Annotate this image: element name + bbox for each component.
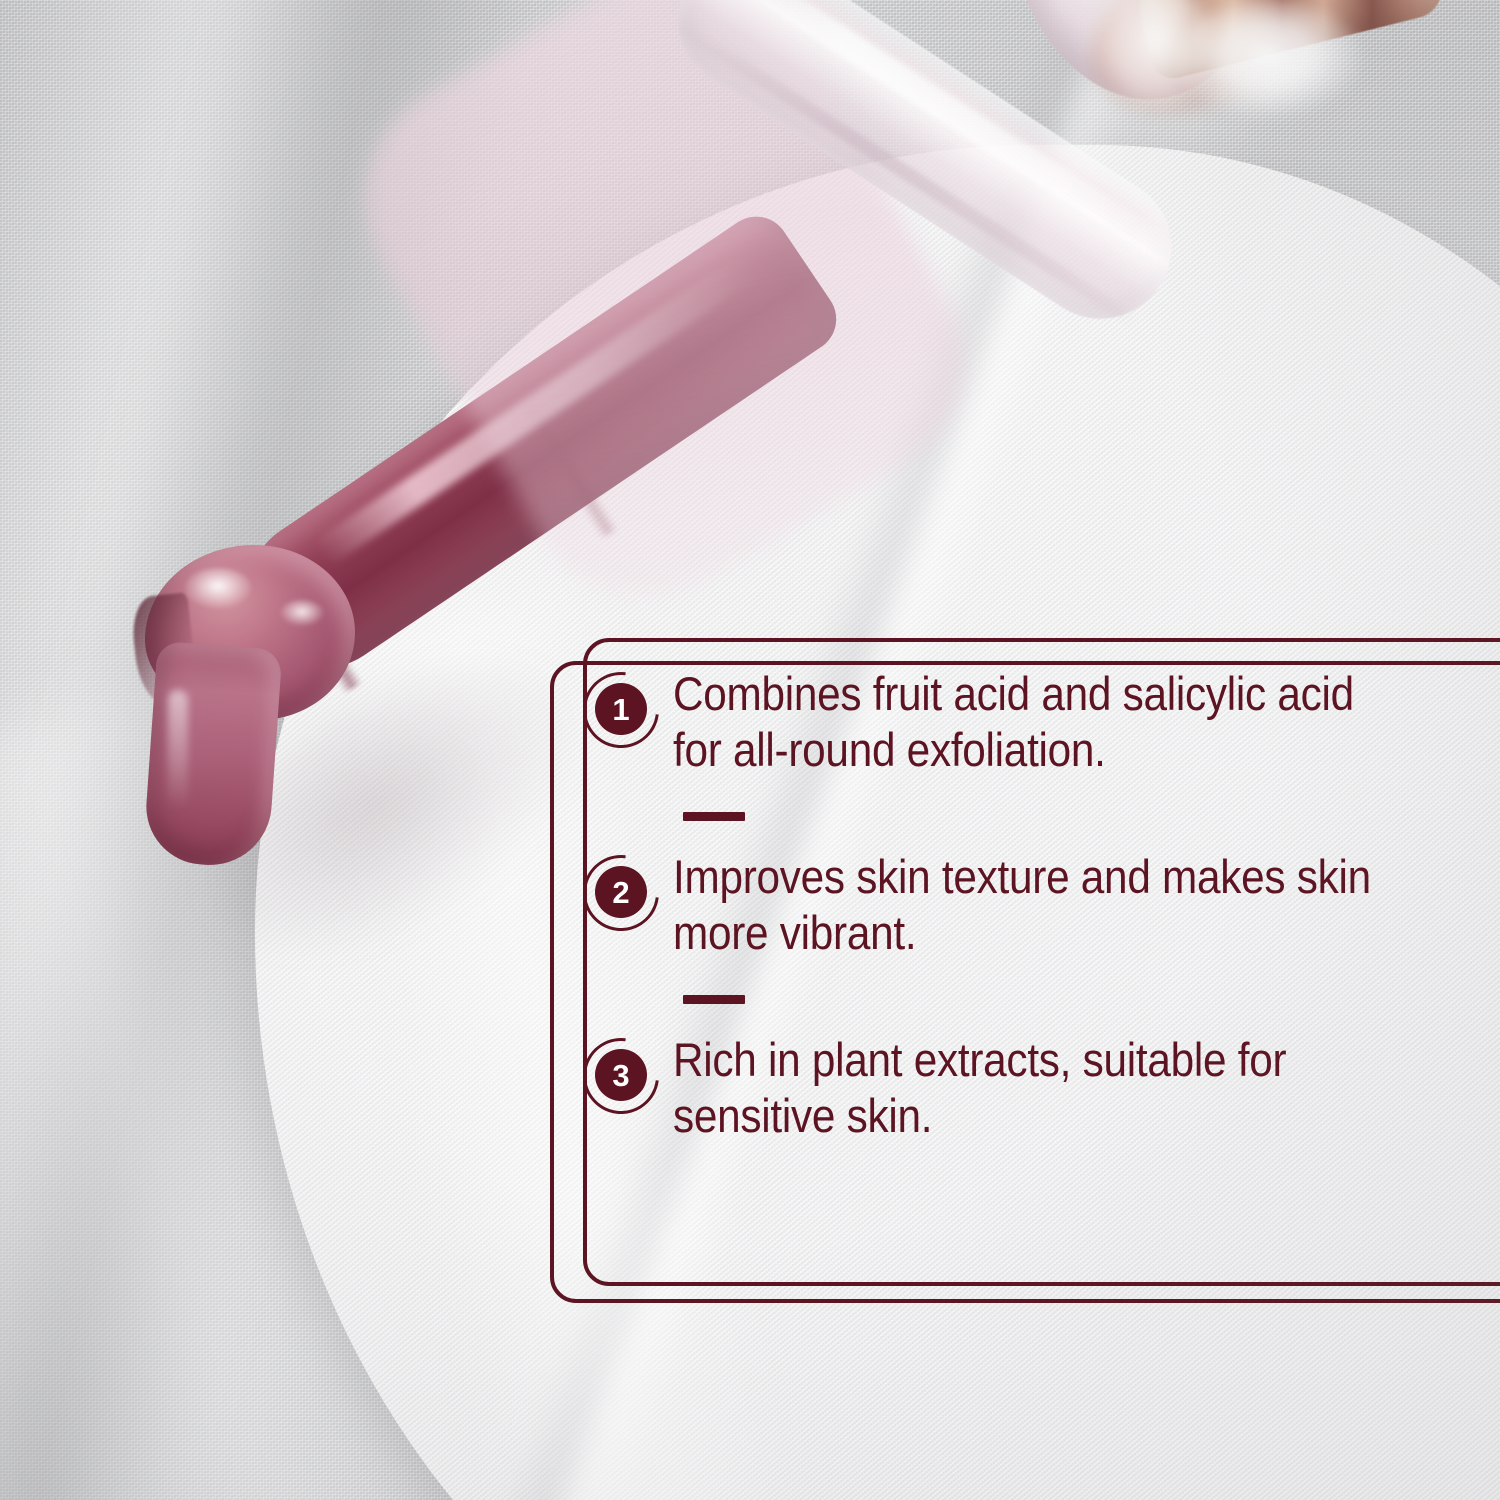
badge-number: 1	[595, 683, 647, 735]
list-item[interactable]: 1 Combines fruit acid and salicylic acid…	[583, 672, 1483, 778]
feature-text: Improves skin texture and makes skin mor…	[673, 849, 1402, 961]
feature-text: Combines fruit acid and salicylic acid f…	[673, 666, 1402, 778]
number-badge-1: 1	[583, 672, 657, 746]
list-divider	[683, 995, 745, 1004]
list-divider	[683, 812, 745, 821]
list-item[interactable]: 2 Improves skin texture and makes skin m…	[583, 855, 1483, 961]
badge-number: 2	[595, 866, 647, 918]
list-item[interactable]: 3 Rich in plant extracts, suitable for s…	[583, 1038, 1483, 1144]
badge-number: 3	[595, 1049, 647, 1101]
cap-glint	[1175, 0, 1365, 120]
product-feature-graphic: 1 Combines fruit acid and salicylic acid…	[0, 0, 1500, 1500]
feature-text: Rich in plant extracts, suitable for sen…	[673, 1032, 1402, 1144]
feature-list: 1 Combines fruit acid and salicylic acid…	[583, 672, 1483, 1144]
number-badge-2: 2	[583, 855, 657, 929]
number-badge-3: 3	[583, 1038, 657, 1112]
